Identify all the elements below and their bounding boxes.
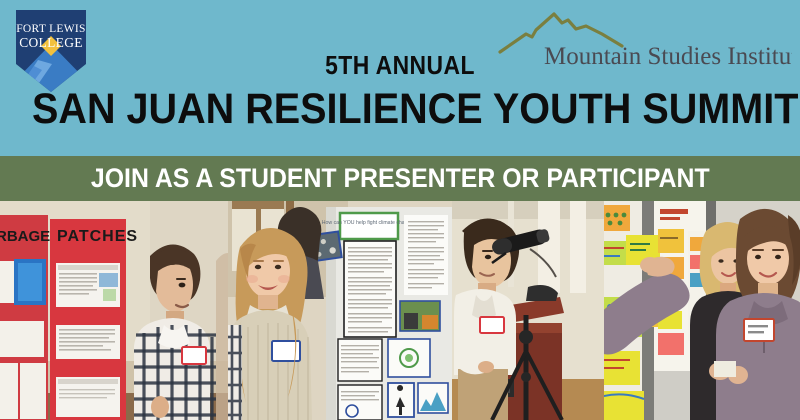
photo-student-at-podium	[452, 201, 604, 420]
photo-garbage-patches-poster: RBAGE PATCHES	[0, 201, 228, 420]
flc-line2: COLLEGE	[19, 35, 83, 50]
flc-line1: FORT LEWIS	[16, 23, 86, 35]
call-to-action-banner: JOIN AS A STUDENT PRESENTER OR PARTICIPA…	[0, 156, 800, 201]
title-block: 5TH ANNUAL SAN JUAN RESILIENCE YOUTH SUM…	[0, 52, 800, 131]
page-title: SAN JUAN RESILIENCE YOUTH SUMMIT	[32, 88, 768, 131]
photo-sticky-note-wall	[604, 201, 800, 420]
call-to-action-text: JOIN AS A STUDENT PRESENTER OR PARTICIPA…	[91, 165, 710, 192]
poster-heading: How can YOU help fight climate change?	[322, 220, 417, 226]
poster-heading-right: PATCHES	[57, 228, 138, 245]
poster-heading-left: RBAGE	[0, 228, 50, 245]
photo-climate-change-poster: How can YOU help fight climate change?	[228, 201, 452, 420]
photo-strip: RBAGE PATCHES	[0, 201, 800, 420]
flyer-header: FORT LEWIS COLLEGE Mountain Studies Inst…	[0, 0, 800, 156]
eyebrow-text: 5TH ANNUAL	[48, 52, 752, 78]
